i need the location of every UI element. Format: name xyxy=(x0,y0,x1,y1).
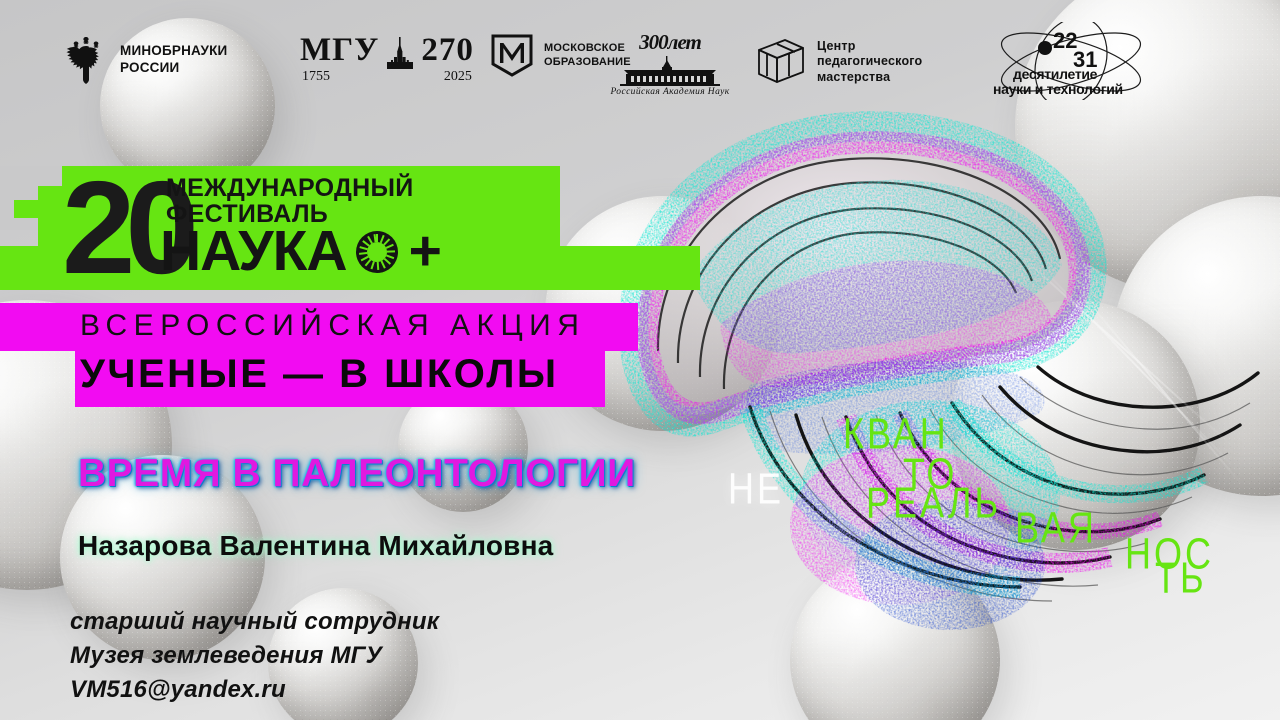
logo-decade-line1: десятилетие xyxy=(1013,66,1097,82)
speaker-organization: Музея землеведения МГУ xyxy=(70,639,439,673)
logo-mgu-anniversary: 270 xyxy=(421,32,474,69)
logo-ran-anniversary: 300лет xyxy=(639,30,701,55)
logo-decade-line2: науки и технологий xyxy=(993,81,1123,97)
speaker-name: Назарова Валентина Михайловна xyxy=(78,530,553,562)
logo-cpm-line2: педагогического xyxy=(817,54,922,70)
double-headed-eagle-icon xyxy=(62,35,110,85)
logo-ran-subtitle: Российская Академия Наук xyxy=(610,87,729,97)
partner-logo-strip: МИНОБРНАУКИ РОССИИ МГУ xyxy=(0,0,1280,112)
festival-subtitle-line1: МЕЖДУНАРОДНЫЙ xyxy=(166,176,414,202)
sunburst-zero-icon xyxy=(356,231,398,273)
decor-text-fragment-vaya: ВАЯ xyxy=(1015,502,1097,553)
speaker-email[interactable]: VM516@yandex.ru xyxy=(70,673,439,707)
logo-mgu-year-to: 2025 xyxy=(444,69,472,85)
logo-mgu-letters: МГУ xyxy=(300,32,379,69)
logo-cpm-line1: Центр xyxy=(817,39,922,55)
open-book-m-icon xyxy=(490,33,534,79)
logo-minobrnauki-line2: РОССИИ xyxy=(120,60,227,77)
green-slab-step-b xyxy=(14,200,44,218)
logo-cpm-label: Центр педагогического мастерства xyxy=(817,39,922,86)
logo-minobrnauki: МИНОБРНАУКИ РОССИИ xyxy=(62,35,227,85)
cube-icon xyxy=(755,36,807,88)
speaker-position: старший научный сотрудник xyxy=(70,605,439,639)
action-kicker: ВСЕРОССИЙСКАЯ АКЦИЯ xyxy=(80,308,585,344)
logo-minobrnauki-line1: МИНОБРНАУКИ xyxy=(120,43,227,60)
logo-centr-pedagogicheskogo-masterstva: Центр педагогического мастерства xyxy=(755,36,922,88)
mgu-tower-icon xyxy=(385,37,415,69)
orbit-electron-icon xyxy=(1038,41,1052,55)
logo-desyatiletie-nauki: 22 31 десятилетие науки и технологий xyxy=(985,22,1157,100)
speaker-affiliation: старший научный сотрудник Музея землевед… xyxy=(70,605,439,707)
logo-minobrnauki-label: МИНОБРНАУКИ РОССИИ xyxy=(120,43,227,77)
logo-mgu-year-from: 1755 xyxy=(302,69,330,85)
logo-mgu: МГУ 270 1755 2025 xyxy=(300,32,474,85)
action-title: УЧЕНЫЕ — В ШКОЛЫ xyxy=(80,347,559,401)
action-block: ВСЕРОССИЙСКАЯ АКЦИЯ УЧЕНЫЕ — В ШКОЛЫ xyxy=(0,303,700,407)
festival-logo-block: 20 МЕЖДУНАРОДНЫЙ ФЕСТИВАЛЬ НАУКА xyxy=(0,166,600,290)
decor-text-fragment-ne: НЕ xyxy=(728,463,784,514)
festival-name: НАУКА xyxy=(160,223,347,280)
festival-rating-plus: + xyxy=(409,223,441,280)
festival-name-row: НАУКА + 0 xyxy=(160,223,441,280)
talk-title: ВРЕМЯ В ПАЛЕОНТОЛОГИИ xyxy=(78,452,636,496)
logo-cpm-line3: мастерства xyxy=(817,70,922,86)
poster-stage: НЕ КВАН ТО РЕАЛЬ ВАЯ НОС ТЬ МИНОБРНАУКИ … xyxy=(0,0,1280,720)
logo-ran: 300лет xyxy=(610,30,730,97)
decor-text-fragment-t: ТЬ xyxy=(1155,552,1207,603)
academy-building-icon xyxy=(610,56,730,86)
decor-text-fragment-real: РЕАЛЬ xyxy=(866,477,1001,528)
